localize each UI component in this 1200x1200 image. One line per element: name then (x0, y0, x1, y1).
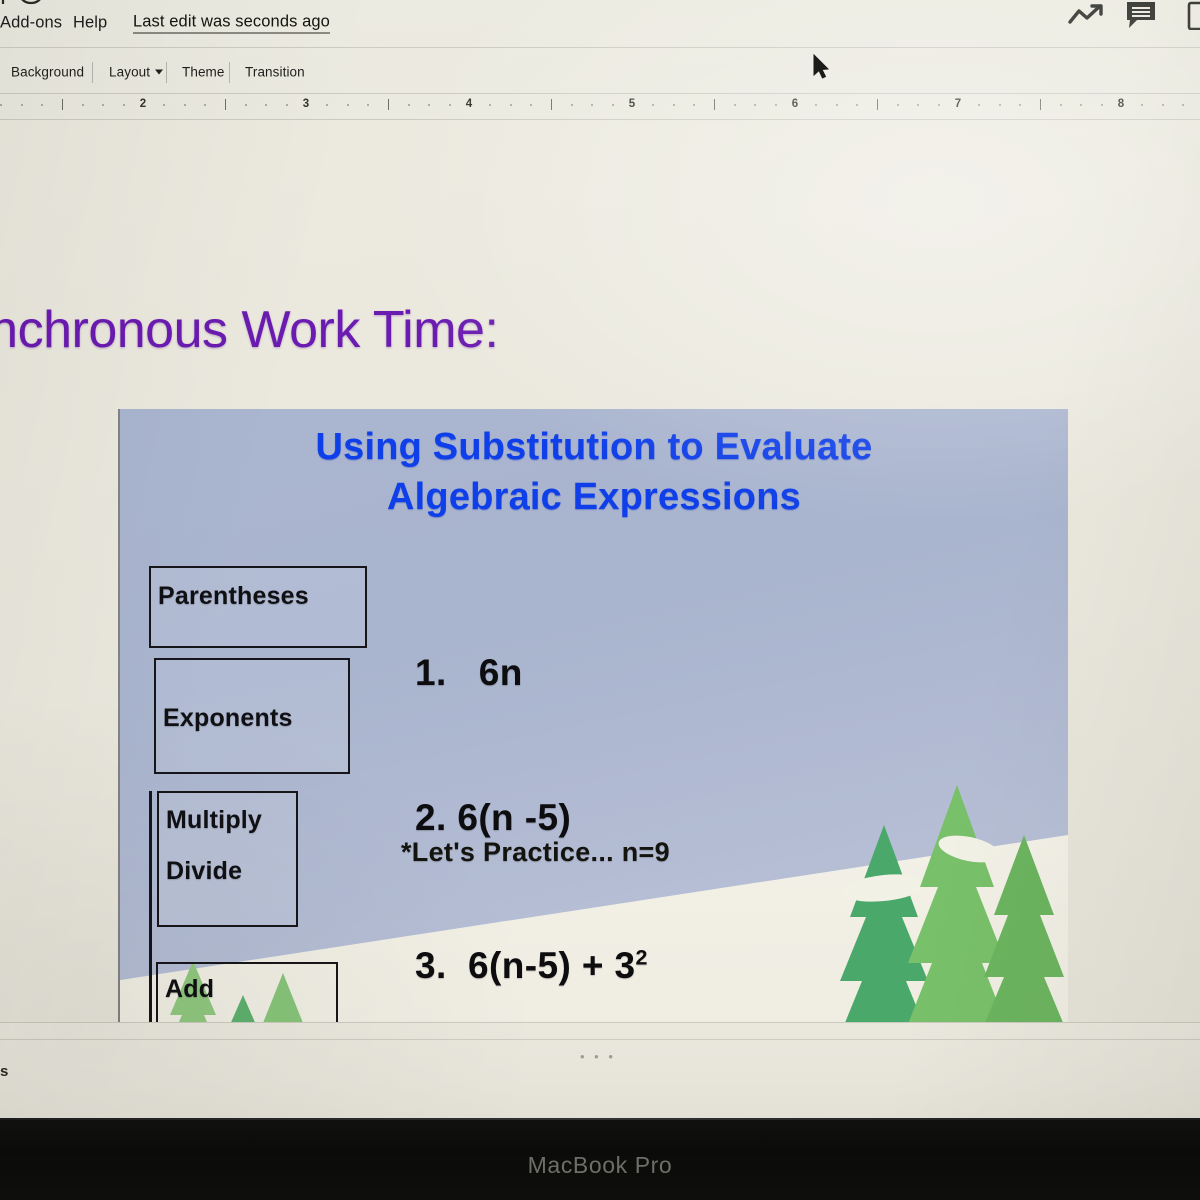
problem-1-expression: 6n (479, 652, 523, 693)
pemdas-label-add: Add (165, 975, 214, 1004)
ruler-tick-minor (102, 104, 104, 106)
ruler-tick-minor (1141, 104, 1143, 106)
ruler-tick-minor (123, 104, 125, 106)
ruler-tick-minor (693, 104, 695, 106)
mouse-cursor-icon (812, 54, 830, 80)
toolbar-divider-1 (92, 62, 93, 83)
ruler-tick-minor (836, 104, 838, 106)
ruler-tick-minor (428, 104, 430, 106)
page-title: Asynchronous Work Time: (0, 300, 544, 360)
ruler-tick-major (551, 99, 552, 110)
slide-title-line2: Algebraic Expressions (120, 477, 1068, 517)
ruler-tick-minor (999, 104, 1001, 106)
clipped-status-label: s (0, 1063, 8, 1080)
ruler-tick-major (877, 99, 878, 110)
toolbar-divider-3 (229, 62, 230, 83)
pemdas-label-exponents: Exponents (163, 704, 293, 733)
ruler-tick-minor (204, 104, 206, 106)
problem-3: 3. 6(n-5) + 32 (415, 945, 648, 987)
ruler-tick-minor (917, 104, 919, 106)
ruler-number: 5 (629, 98, 635, 110)
current-slide[interactable]: Using Substitution to Evaluate Algebraic… (120, 409, 1068, 1103)
ruler-tick-minor (489, 104, 491, 106)
problem-1: 1. 6n (415, 652, 523, 694)
ruler-tick-minor (856, 104, 858, 106)
ruler-tick-minor (21, 104, 23, 106)
ruler-number: 2 (140, 98, 146, 110)
horizontal-ruler[interactable]: 2345678 (0, 96, 1200, 120)
problem-3-exponent: 2 (636, 946, 648, 970)
problem-3-expression: 6(n-5) + 3 (468, 945, 635, 986)
problem-2: 2. 6(n -5) (415, 797, 571, 839)
ruler-tick-minor (1019, 104, 1021, 106)
ruler-tick-minor (612, 104, 614, 106)
ruler-tick-minor (1060, 104, 1062, 106)
ruler-tick-major (62, 99, 63, 110)
ruler-tick-minor (978, 104, 980, 106)
menubar-divider (0, 47, 1200, 48)
speaker-notes-handle[interactable]: • • • (580, 1049, 616, 1064)
slide-title-line1: Using Substitution to Evaluate (120, 427, 1068, 467)
insert-image-icon[interactable] (18, 0, 44, 12)
share-icon[interactable] (1184, 0, 1200, 30)
tree-mid-green (978, 831, 1068, 1052)
ruler-tick-minor (82, 104, 84, 106)
ruler-tick-minor (734, 104, 736, 106)
ruler-tick-minor (510, 104, 512, 106)
ruler-tick-minor (245, 104, 247, 106)
ruler-tick-minor (41, 104, 43, 106)
menu-item-addons[interactable]: Add-ons (0, 14, 62, 33)
ruler-tick-minor (652, 104, 654, 106)
pemdas-box-exponents: Exponents (154, 658, 350, 774)
bezel-highlight (0, 1118, 1200, 1120)
ruler-tick-minor (449, 104, 451, 106)
problem-3-number: 3. (415, 945, 447, 986)
pemdas-box-multiply-divide: Multiply Divide (157, 791, 298, 927)
ruler-tick-minor (265, 104, 267, 106)
ruler-tick-minor (367, 104, 369, 106)
slide-canvas-area: Asynchronous Work Time: (0, 122, 1200, 1022)
ruler-tick-major (388, 99, 389, 110)
pemdas-label-divide: Divide (166, 857, 242, 886)
pemdas-label-multiply: Multiply (166, 806, 262, 835)
ruler-tick-minor (0, 104, 2, 106)
layout-button[interactable]: Layout (109, 65, 163, 80)
ruler-tick-minor (938, 104, 940, 106)
ruler-tick-major (225, 99, 226, 110)
ruler-tick-minor (775, 104, 777, 106)
ruler-tick-minor (1162, 104, 1164, 106)
laptop-screen: Add-ons Help Last edit was seconds ago (0, 0, 1200, 1118)
ruler-tick-minor (286, 104, 288, 106)
ruler-tick-minor (408, 104, 410, 106)
ruler-number: 6 (792, 98, 798, 110)
ruler-tick-minor (184, 104, 186, 106)
device-brand-label: MacBook Pro (0, 1152, 1200, 1179)
ruler-tick-minor (1101, 104, 1103, 106)
status-strip-divider (0, 1039, 1200, 1040)
layout-button-label: Layout (109, 65, 150, 80)
background-button[interactable]: Background (11, 65, 84, 80)
ruler-tick-minor (673, 104, 675, 106)
bottom-status-strip: • • • s (0, 1022, 1200, 1119)
ruler-tick-major (1040, 99, 1041, 110)
ruler-tick-minor (530, 104, 532, 106)
practice-note: *Let's Practice... n=9 (401, 837, 670, 868)
ruler-number: 3 (303, 98, 309, 110)
comment-icon[interactable] (1125, 0, 1159, 30)
chevron-down-icon (155, 70, 163, 75)
ruler-tick-minor (163, 104, 165, 106)
menu-bar: Add-ons Help Last edit was seconds ago (0, 0, 1200, 48)
ruler-tick-minor (815, 104, 817, 106)
ruler-tick-major (714, 99, 715, 110)
menu-item-help[interactable]: Help (73, 14, 107, 33)
slide-toolbar: Background Layout Theme Transition (0, 50, 1200, 94)
ruler-tick-minor (347, 104, 349, 106)
ruler-number: 4 (466, 98, 472, 110)
pemdas-label-parentheses: Parentheses (158, 582, 309, 611)
problem-1-number: 1. (415, 652, 447, 693)
pemdas-box-parentheses: Parentheses (149, 566, 367, 648)
ruler-tick-minor (897, 104, 899, 106)
last-edit-link[interactable]: Last edit was seconds ago (133, 13, 330, 34)
ruler-tick-minor (591, 104, 593, 106)
ruler-tick-minor (1182, 104, 1184, 106)
ruler-tick-minor (571, 104, 573, 106)
ruler-number: 7 (955, 98, 961, 110)
ruler-number: 8 (1118, 98, 1124, 110)
problem-2-number: 2. (415, 797, 447, 838)
toolbar-divider-2 (166, 62, 167, 83)
trending-up-icon[interactable] (1066, 2, 1110, 28)
undo-icon[interactable] (0, 0, 16, 12)
ruler-bottom-border (0, 119, 1200, 120)
screenshot-root: Add-ons Help Last edit was seconds ago (0, 0, 1200, 1200)
theme-button[interactable]: Theme (182, 65, 225, 80)
transition-button[interactable]: Transition (245, 65, 305, 80)
ruler-tick-minor (754, 104, 756, 106)
problem-2-expression: 6(n -5) (457, 797, 571, 838)
toolbar-divider-bottom (0, 93, 1200, 94)
ruler-tick-minor (326, 104, 328, 106)
ruler-tick-minor (1080, 104, 1082, 106)
